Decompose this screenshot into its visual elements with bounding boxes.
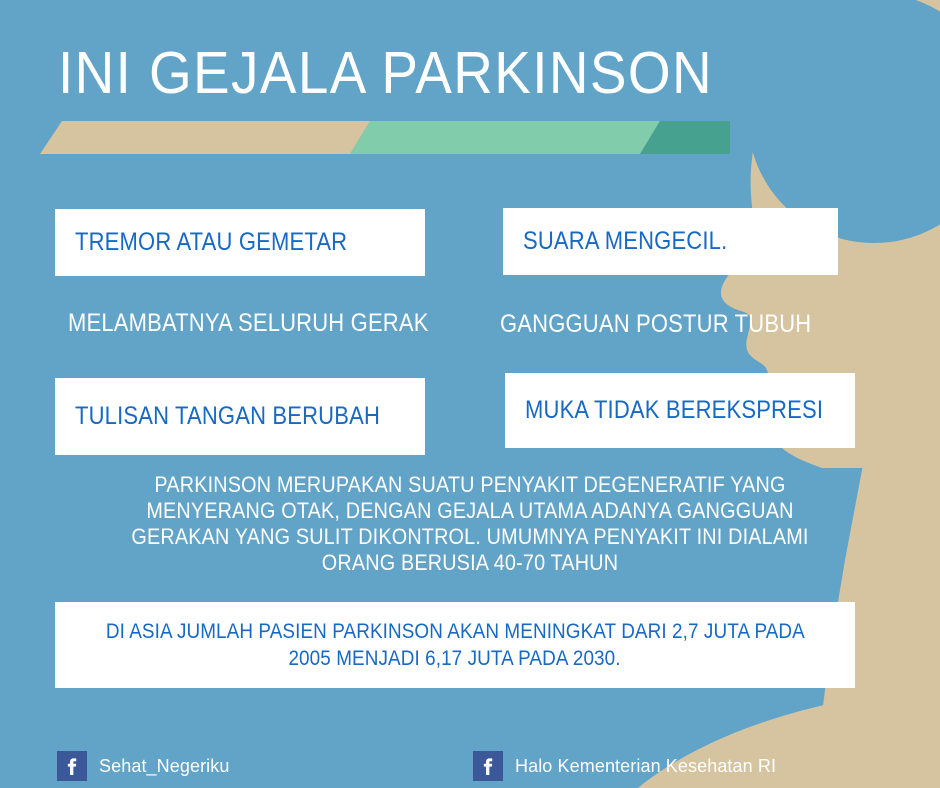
facebook-icon[interactable] bbox=[473, 751, 503, 781]
symptom-card-suara-mengecil: SUARA MENGECIL. bbox=[503, 208, 838, 275]
description-paragraph: PARKINSON MERUPAKAN SUATU PENYAKIT DEGEN… bbox=[0, 472, 940, 576]
accent-stripe bbox=[40, 121, 730, 154]
symptom-card-muka-tidak-berekspresi: MUKA TIDAK BEREKSPRESI bbox=[505, 373, 855, 448]
description-line: PARKINSON MERUPAKAN SUATU PENYAKIT DEGEN… bbox=[47, 472, 893, 498]
statistic-line: 2005 MENJADI 6,17 JUTA PADA 2030. bbox=[289, 645, 621, 672]
symptom-text-melambatnya-seluruh-gerak: MELAMBATNYA SELURUH GERAK bbox=[68, 309, 429, 338]
description-line: ORANG BERUSIA 40-70 TAHUN bbox=[47, 550, 893, 576]
stripe-light-green-segment bbox=[350, 121, 660, 154]
symptom-card-tremor: TREMOR ATAU GEMETAR bbox=[55, 209, 425, 276]
stripe-tan-segment bbox=[40, 121, 370, 154]
symptom-card-tulisan-tangan-berubah: TULISAN TANGAN BERUBAH bbox=[55, 378, 425, 455]
footer-handle-label: Halo Kementerian Kesehatan RI bbox=[515, 756, 776, 777]
symptom-text-gangguan-postur-tubuh: GANGGUAN POSTUR TUBUH bbox=[500, 310, 811, 339]
description-line: GERAKAN YANG SULIT DIKONTROL. UMUMNYA PE… bbox=[47, 524, 893, 550]
footer-social-sehat-negeriku[interactable]: Sehat_Negeriku bbox=[57, 751, 230, 781]
symptom-label: MUKA TIDAK BEREKSPRESI bbox=[525, 396, 823, 425]
page-title: INI GEJALA PARKINSON bbox=[58, 42, 713, 104]
parkinson-infographic: INI GEJALA PARKINSON TREMOR ATAU GEMETAR… bbox=[0, 0, 940, 788]
symptom-label: SUARA MENGECIL. bbox=[523, 227, 727, 256]
statistic-line: DI ASIA JUMLAH PASIEN PARKINSON AKAN MEN… bbox=[105, 618, 804, 645]
footer-social-halo-kemenkes[interactable]: Halo Kementerian Kesehatan RI bbox=[473, 751, 776, 781]
facebook-icon[interactable] bbox=[57, 751, 87, 781]
description-line: MENYERANG OTAK, DENGAN GEJALA UTAMA ADAN… bbox=[47, 498, 893, 524]
symptom-label: TREMOR ATAU GEMETAR bbox=[75, 228, 347, 257]
symptom-label: TULISAN TANGAN BERUBAH bbox=[75, 402, 380, 431]
footer-handle-label: Sehat_Negeriku bbox=[99, 756, 230, 777]
statistic-callout: DI ASIA JUMLAH PASIEN PARKINSON AKAN MEN… bbox=[55, 602, 855, 688]
brain-cavity-shape bbox=[748, 0, 940, 243]
